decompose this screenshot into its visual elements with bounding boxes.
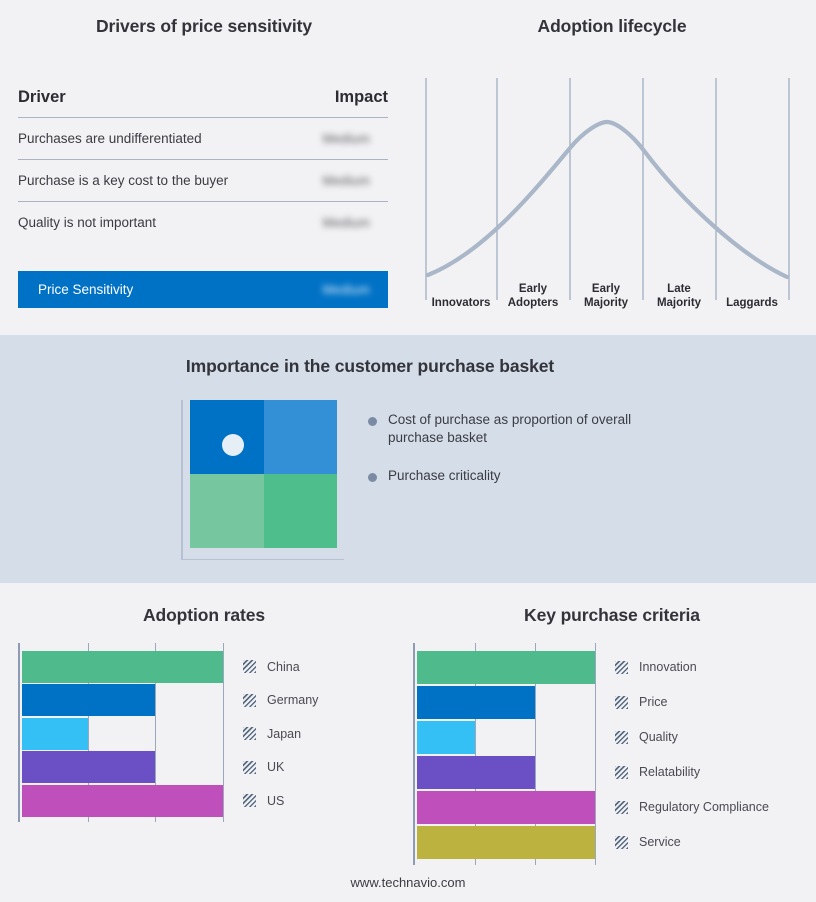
legend-item[interactable]: Japan [243,727,301,741]
bullet-icon [368,417,377,426]
quadrant-x-axis [181,559,344,561]
legend-swatch-icon [243,727,256,740]
adoption-rates-panel: Adoption rates ChinaGermanyJapanUKUS [0,583,408,902]
quadrant-chart [181,400,344,560]
quadrant-cell-top-right[interactable] [264,400,338,474]
legend-label: Price [639,695,667,709]
legend-label: Germany [267,693,318,707]
legend-swatch-icon [243,694,256,707]
legend-item[interactable]: Relatability [615,765,700,779]
driver-name: Price Sensitivity [38,282,133,297]
legend-swatch-icon [243,761,256,774]
bullet-icon [368,473,377,482]
bar[interactable] [417,721,475,755]
table-row[interactable]: Purchases are undifferentiated Medium [18,118,388,160]
purchase-basket-panel: Importance in the customer purchase bask… [0,335,816,583]
column-header-impact: Impact [335,88,388,107]
lifecycle-stage-label-early-adopters-line1: Early [519,283,548,295]
lifecycle-stage-label-laggards: Laggards [726,297,778,309]
legend-swatch-icon [615,661,628,674]
adoption-rates-chart: ChinaGermanyJapanUKUS [18,643,388,863]
impact-value: Medium [323,282,388,297]
footer-url: www.technavio.com [0,875,816,890]
legend-swatch-icon [615,731,628,744]
legend-label: Quality [639,730,678,744]
plot-area [413,643,593,865]
lifecycle-stage-label-early-majority: Majority [584,297,629,309]
legend-label: Relatability [639,765,700,779]
lifecycle-title: Adoption lifecycle [408,16,816,37]
list-item: Purchase criticality [368,467,668,485]
lifecycle-gridlines [426,78,789,300]
impact-value: Medium [323,173,388,188]
impact-value: Medium [323,131,388,146]
column-header-driver: Driver [18,88,66,107]
drivers-title: Drivers of price sensitivity [0,16,408,37]
bar[interactable] [417,756,535,790]
legend-swatch-icon [243,660,256,673]
bar[interactable] [22,651,223,683]
bar[interactable] [417,791,595,825]
legend-swatch-icon [615,696,628,709]
legend-swatch-icon [615,766,628,779]
bar[interactable] [22,751,155,783]
legend-item[interactable]: China [243,660,300,674]
lifecycle-bell-curve [428,122,787,277]
legend-label: China [267,660,300,674]
plot-area [18,643,221,822]
lifecycle-stage-label-late-majority: Majority [657,297,702,309]
table-row[interactable]: Purchase is a key cost to the buyer Medi… [18,160,388,202]
legend-swatch-icon [243,794,256,807]
legend-swatch-icon [615,801,628,814]
basket-legend-label: Cost of purchase as proportion of overal… [388,411,638,447]
drivers-panel: Drivers of price sensitivity Driver Impa… [0,0,408,335]
driver-name: Purchases are undifferentiated [18,131,202,146]
legend-label: UK [267,760,284,774]
legend-label: Innovation [639,660,697,674]
basket-title: Importance in the customer purchase bask… [0,356,740,377]
quadrant-cell-bottom-right[interactable] [264,474,338,548]
quadrant-grid [190,400,337,548]
legend-label: Regulatory Compliance [639,800,769,814]
adoption-lifecycle-panel: Adoption lifecycle Innovators Early Adop… [408,0,816,335]
legend-item[interactable]: Germany [243,693,318,707]
lifecycle-stage-label-early-adopters: Adopters [508,297,558,309]
drivers-table: Driver Impact Purchases are undifferenti… [18,88,388,243]
legend-label: US [267,794,284,808]
driver-name: Quality is not important [18,215,156,230]
lifecycle-stage-label-innovators: Innovators [432,297,491,309]
key-purchase-criteria-chart: InnovationPriceQualityRelatabilityRegula… [413,643,813,873]
quadrant-y-axis [181,400,183,560]
drivers-table-header: Driver Impact [18,88,388,118]
key-purchase-criteria-title: Key purchase criteria [408,605,816,626]
lifecycle-stage-label-early-majority-line1: Early [592,283,621,295]
legend-item[interactable]: Regulatory Compliance [615,800,769,814]
legend-item[interactable]: UK [243,760,284,774]
gridline [223,643,224,822]
legend-swatch-icon [615,836,628,849]
basket-legend: Cost of purchase as proportion of overal… [368,411,668,506]
lifecycle-curve-chart: Innovators Early Adopters Early Majority… [425,70,799,310]
key-purchase-criteria-panel: Key purchase criteria InnovationPriceQua… [408,583,816,902]
bar[interactable] [22,785,223,817]
table-row-highlighted-price-sensitivity[interactable]: Price Sensitivity Medium [18,271,388,308]
legend-label: Japan [267,727,301,741]
impact-value: Medium [323,215,388,230]
table-row[interactable]: Quality is not important Medium [18,202,388,243]
driver-name: Purchase is a key cost to the buyer [18,173,228,188]
legend-item[interactable]: US [243,794,284,808]
bar[interactable] [417,826,595,860]
gridline [595,643,596,865]
bar[interactable] [417,686,535,720]
lifecycle-stage-label-late-majority-line1: Late [667,283,691,295]
quadrant-position-marker [222,434,244,456]
bar[interactable] [22,684,155,716]
legend-item[interactable]: Service [615,835,681,849]
bar[interactable] [22,718,88,750]
legend-item[interactable]: Price [615,695,667,709]
list-item: Cost of purchase as proportion of overal… [368,411,668,447]
legend-item[interactable]: Quality [615,730,678,744]
bar[interactable] [417,651,595,685]
legend-label: Service [639,835,681,849]
legend-item[interactable]: Innovation [615,660,697,674]
basket-legend-label: Purchase criticality [388,467,501,485]
adoption-rates-title: Adoption rates [0,605,408,626]
quadrant-cell-bottom-left[interactable] [190,474,264,548]
